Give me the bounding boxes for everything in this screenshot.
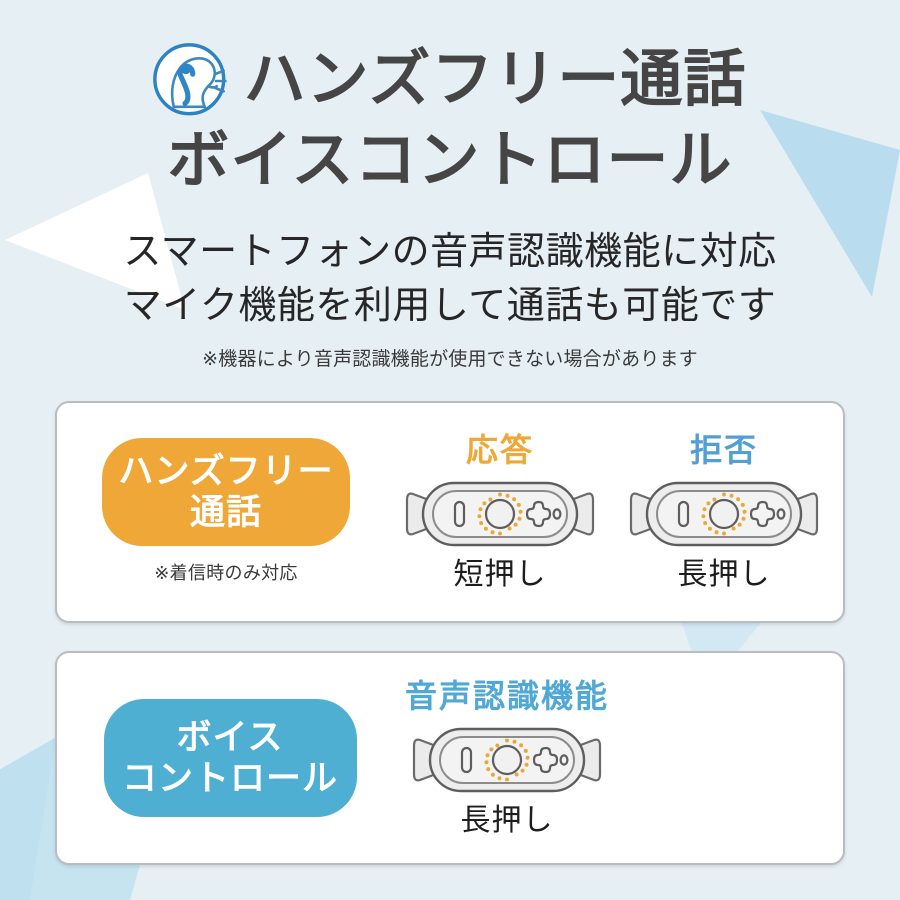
device-action-voice-recognition: 長押し: [461, 806, 554, 836]
badge-hands-free-line-2: 通話: [118, 492, 333, 533]
badge-hands-free-call: ハンズフリー 通話: [102, 438, 350, 546]
microphone-hole: [554, 509, 561, 518]
header-footnote: ※機器により音声認識機能が使用できない場合があります: [0, 344, 900, 371]
title-line-1: ハンズフリー通話: [244, 49, 747, 111]
device-block-voice-recognition: 音声認識機能: [405, 680, 609, 836]
volume-up-button[interactable]: [455, 502, 464, 526]
badge-hands-free-line-1: ハンズフリー: [118, 451, 333, 492]
remote-device-voice-recognition: [412, 724, 602, 796]
card-hands-free-call: ハンズフリー 通話 ※着信時のみ対応 応答: [55, 401, 845, 623]
center-multifunction-button[interactable]: [710, 500, 738, 528]
title-line-2: ボイスコントロール: [0, 130, 900, 192]
feature-cards: ハンズフリー 通話 ※着信時のみ対応 応答: [55, 371, 845, 865]
device-column-hands-free: 応答: [381, 434, 843, 590]
badge-column-hands-free: ハンズフリー 通話 ※着信時のみ対応: [57, 438, 381, 585]
badge-voice-control: ボイス コントロール: [104, 699, 357, 817]
remote-device-reject: [629, 478, 819, 550]
badge-note-hands-free: ※着信時のみ対応: [154, 559, 297, 585]
badge-column-voice-control: ボイス コントロール: [57, 699, 395, 817]
voice-head-icon: [148, 38, 234, 124]
card-voice-control: ボイス コントロール 音声認識機能: [55, 651, 845, 865]
microphone-hole: [561, 755, 568, 764]
header: ハンズフリー通話 ボイスコントロール スマートフォンの音声認識機能に対応 マイク…: [0, 0, 900, 371]
remote-device-answer: [405, 478, 595, 550]
infographic-page: ハンズフリー通話 ボイスコントロール スマートフォンの音声認識機能に対応 マイク…: [0, 0, 900, 900]
badge-voice-control-line-1: ボイス: [122, 717, 338, 758]
volume-up-button[interactable]: [679, 502, 688, 526]
subtitle: スマートフォンの音声認識機能に対応 マイク機能を利用して通話も可能です: [0, 226, 900, 334]
device-column-voice-control: 音声認識機能: [395, 680, 843, 836]
device-action-answer: 短押し: [454, 560, 547, 590]
title-row: ハンズフリー通話: [0, 36, 900, 124]
device-block-reject: 拒否: [629, 434, 819, 590]
volume-up-button[interactable]: [462, 748, 471, 772]
center-multifunction-button[interactable]: [486, 500, 514, 528]
subtitle-line-2: マイク機能を利用して通話も可能です: [0, 280, 900, 334]
device-block-answer: 応答: [405, 434, 595, 590]
device-label-answer: 応答: [466, 434, 534, 466]
device-label-reject: 拒否: [690, 434, 758, 466]
microphone-hole: [778, 509, 785, 518]
center-multifunction-button[interactable]: [493, 746, 521, 774]
device-action-reject: 長押し: [678, 560, 771, 590]
subtitle-line-1: スマートフォンの音声認識機能に対応: [0, 226, 900, 280]
badge-voice-control-line-2: コントロール: [122, 758, 338, 799]
device-label-voice-recognition: 音声認識機能: [405, 680, 609, 712]
